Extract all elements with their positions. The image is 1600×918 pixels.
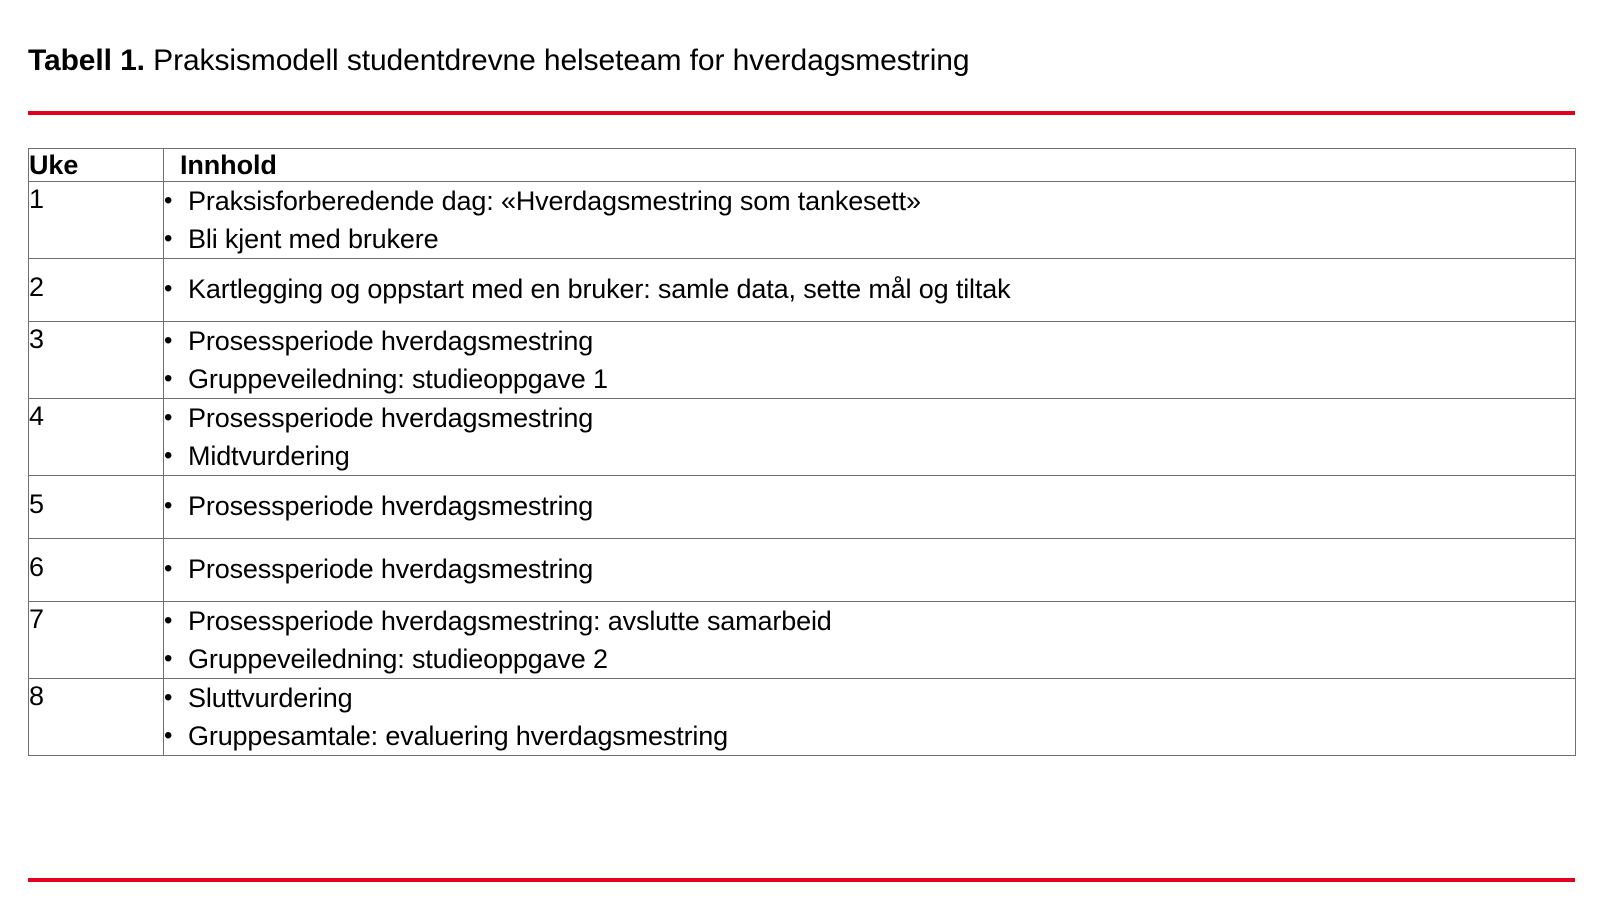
cell-content: Prosessperiode hverdagsmestring: avslutt… xyxy=(164,602,1576,679)
content-bullet-item: Prosessperiode hverdagsmestring xyxy=(164,487,1575,525)
content-bullet-list: Prosessperiode hverdagsmestring xyxy=(164,487,1575,525)
cell-content: Prosessperiode hverdagsmestring xyxy=(164,476,1576,539)
column-header-uke: Uke xyxy=(29,149,164,182)
content-bullet-item: Prosessperiode hverdagsmestring xyxy=(164,322,1575,360)
content-bullet-item: Sluttvurdering xyxy=(164,679,1575,717)
table-caption-label: Tabell 1. xyxy=(28,44,145,77)
content-bullet-item: Gruppesamtale: evaluering hverdagsmestri… xyxy=(164,717,1575,755)
bottom-red-rule xyxy=(28,878,1575,882)
table-caption: Tabell 1. Praksismodell studentdrevne he… xyxy=(28,42,1576,80)
table-row: 7 Prosessperiode hverdagsmestring: avslu… xyxy=(29,602,1576,679)
table-caption-text: Praksismodell studentdrevne helseteam fo… xyxy=(145,44,970,77)
content-bullet-list: Prosessperiode hverdagsmestring Gruppeve… xyxy=(164,322,1575,398)
table-row: 2 Kartlegging og oppstart med en bruker:… xyxy=(29,259,1576,322)
content-bullet-item: Bli kjent med brukere xyxy=(164,220,1575,258)
content-bullet-item: Gruppeveiledning: studieoppgave 2 xyxy=(164,640,1575,678)
top-red-rule xyxy=(28,111,1575,115)
content-bullet-list: Praksisforberedende dag: «Hverdagsmestri… xyxy=(164,182,1575,258)
table-row: 3 Prosessperiode hverdagsmestring Gruppe… xyxy=(29,322,1576,399)
table-row: 8 Sluttvurdering Gruppesamtale: evalueri… xyxy=(29,679,1576,756)
table-row: 5 Prosessperiode hverdagsmestring xyxy=(29,476,1576,539)
content-bullet-list: Sluttvurdering Gruppesamtale: evaluering… xyxy=(164,679,1575,755)
content-bullet-list: Prosessperiode hverdagsmestring: avslutt… xyxy=(164,602,1575,678)
cell-week-number: 3 xyxy=(29,322,164,399)
cell-content: Prosessperiode hverdagsmestring Gruppeve… xyxy=(164,322,1576,399)
cell-content: Praksisforberedende dag: «Hverdagsmestri… xyxy=(164,182,1576,259)
table-row: 6 Prosessperiode hverdagsmestring xyxy=(29,539,1576,602)
table-container: Uke Innhold 1 Praksisforberedende dag: «… xyxy=(28,148,1575,756)
praksismodell-table: Uke Innhold 1 Praksisforberedende dag: «… xyxy=(28,148,1576,756)
cell-week-number: 4 xyxy=(29,399,164,476)
content-bullet-item: Gruppeveiledning: studieoppgave 1 xyxy=(164,360,1575,398)
content-bullet-item: Midtvurdering xyxy=(164,437,1575,475)
table-header: Uke Innhold xyxy=(29,149,1576,182)
cell-content: Prosessperiode hverdagsmestring Midtvurd… xyxy=(164,399,1576,476)
table-header-row: Uke Innhold xyxy=(29,149,1576,182)
content-bullet-item: Prosessperiode hverdagsmestring xyxy=(164,399,1575,437)
cell-week-number: 1 xyxy=(29,182,164,259)
content-bullet-list: Kartlegging og oppstart med en bruker: s… xyxy=(164,270,1575,308)
cell-content: Kartlegging og oppstart med en bruker: s… xyxy=(164,259,1576,322)
content-bullet-item: Prosessperiode hverdagsmestring xyxy=(164,550,1575,588)
content-bullet-list: Prosessperiode hverdagsmestring Midtvurd… xyxy=(164,399,1575,475)
table-row: 1 Praksisforberedende dag: «Hverdagsmest… xyxy=(29,182,1576,259)
cell-week-number: 7 xyxy=(29,602,164,679)
table-row: 4 Prosessperiode hverdagsmestring Midtvu… xyxy=(29,399,1576,476)
content-bullet-list: Prosessperiode hverdagsmestring xyxy=(164,550,1575,588)
column-header-innhold: Innhold xyxy=(164,149,1576,182)
cell-week-number: 8 xyxy=(29,679,164,756)
table-body: 1 Praksisforberedende dag: «Hverdagsmest… xyxy=(29,182,1576,756)
content-bullet-item: Praksisforberedende dag: «Hverdagsmestri… xyxy=(164,182,1575,220)
cell-content: Prosessperiode hverdagsmestring xyxy=(164,539,1576,602)
cell-week-number: 5 xyxy=(29,476,164,539)
content-bullet-item: Kartlegging og oppstart med en bruker: s… xyxy=(164,270,1575,308)
table-figure-page: Tabell 1. Praksismodell studentdrevne he… xyxy=(0,0,1600,918)
cell-week-number: 2 xyxy=(29,259,164,322)
cell-content: Sluttvurdering Gruppesamtale: evaluering… xyxy=(164,679,1576,756)
cell-week-number: 6 xyxy=(29,539,164,602)
content-bullet-item: Prosessperiode hverdagsmestring: avslutt… xyxy=(164,602,1575,640)
